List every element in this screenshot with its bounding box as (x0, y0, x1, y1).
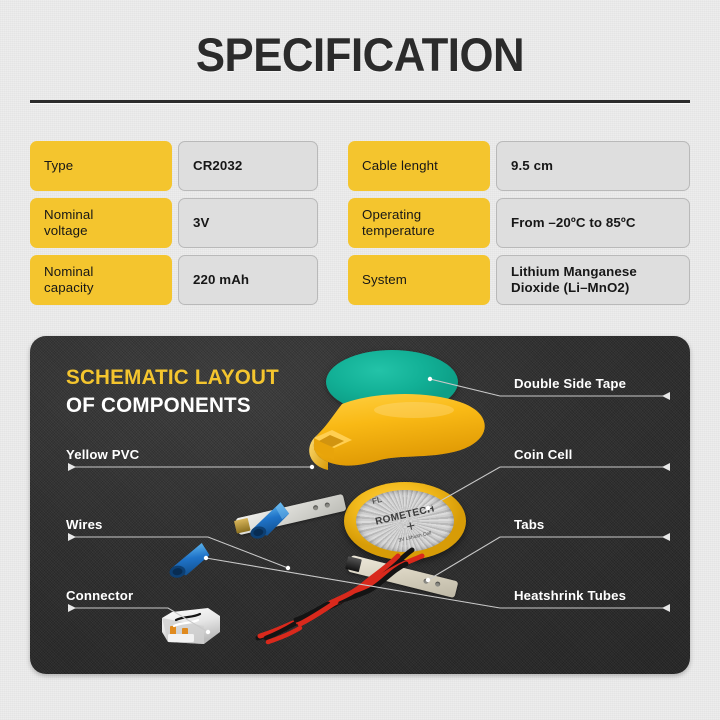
schematic-layout-panel: SCHEMATIC LAYOUT OF COMPONENTS FL RO (30, 336, 690, 674)
spec-value-text: 220 mAh (193, 272, 249, 288)
spec-value-cable-length: 9.5 cm (496, 141, 690, 191)
spec-label-text: Type (44, 158, 73, 174)
column-gap (318, 198, 348, 248)
spec-value-nominal-voltage: 3V (178, 198, 318, 248)
spec-value-text: 3V (193, 215, 209, 231)
spec-value-nominal-capacity: 220 mAh (178, 255, 318, 305)
leader-tabs (428, 537, 670, 580)
spec-label-operating-temperature: Operatingtemperature (348, 198, 490, 248)
tab-hole (313, 505, 319, 511)
spec-value-type: CR2032 (178, 141, 318, 191)
page-title: SPECIFICATION (25, 27, 695, 82)
spec-value-text: 9.5 cm (511, 158, 553, 174)
title-divider (30, 100, 690, 103)
spec-label-nominal-capacity: Nominalcapacity (30, 255, 172, 305)
spec-label-type: Type (30, 141, 172, 191)
spec-label-text: System (362, 272, 407, 288)
spec-label-nominal-voltage: Nominalvoltage (30, 198, 172, 248)
spec-value-operating-temperature: From –20ºC to 85ºC (496, 198, 690, 248)
spec-value-system: Lithium ManganeseDioxide (Li–MnO2) (496, 255, 690, 305)
leader-arrow-right (662, 604, 670, 612)
column-gap (318, 255, 348, 305)
leader-arrow-right (662, 392, 670, 400)
callout-label-coin-cell: Coin Cell (514, 447, 573, 462)
callout-label-double-side-tape: Double Side Tape (514, 376, 626, 391)
schematic-title-line1: SCHEMATIC LAYOUT (66, 365, 279, 390)
spec-value-text: From –20ºC to 85ºC (511, 215, 636, 231)
coin-cell-mark: FL (371, 495, 383, 506)
yellow-pvc-art (294, 388, 494, 474)
schematic-title: SCHEMATIC LAYOUT OF COMPONENTS (66, 365, 279, 418)
leader-arrow-right (662, 463, 670, 471)
callout-label-tabs: Tabs (514, 517, 544, 532)
callout-label-heatshrink-tubes: Heatshrink Tubes (514, 588, 626, 603)
column-gap (318, 141, 348, 191)
leader-arrow-left (68, 533, 76, 541)
specification-table: Type CR2032 Cable lenght 9.5 cm Nominalv… (30, 141, 690, 305)
spec-label-cable-length: Cable lenght (348, 141, 490, 191)
callout-label-yellow-pvc: Yellow PVC (66, 447, 139, 462)
leader-arrow-right (662, 533, 670, 541)
leader-arrow-left (68, 463, 76, 471)
spec-label-text: Operatingtemperature (362, 207, 435, 240)
schematic-title-line2: OF COMPONENTS (66, 393, 279, 418)
connector-art (158, 606, 230, 652)
spec-label-text: Nominalvoltage (44, 207, 93, 240)
tab-hole (324, 502, 330, 508)
coin-cell-face: FL ROMETECH + 3V Lithium Cell (356, 490, 454, 552)
callout-label-wires: Wires (66, 517, 103, 532)
leader-arrow-left (68, 604, 76, 612)
spec-value-text: Lithium ManganeseDioxide (Li–MnO2) (511, 264, 637, 297)
heatshrink-tube-upper-art (243, 498, 295, 543)
callout-label-connector: Connector (66, 588, 133, 603)
spec-label-system: System (348, 255, 490, 305)
spec-label-text: Cable lenght (362, 158, 438, 174)
spec-value-text: CR2032 (193, 158, 242, 174)
spec-label-text: Nominalcapacity (44, 264, 94, 297)
